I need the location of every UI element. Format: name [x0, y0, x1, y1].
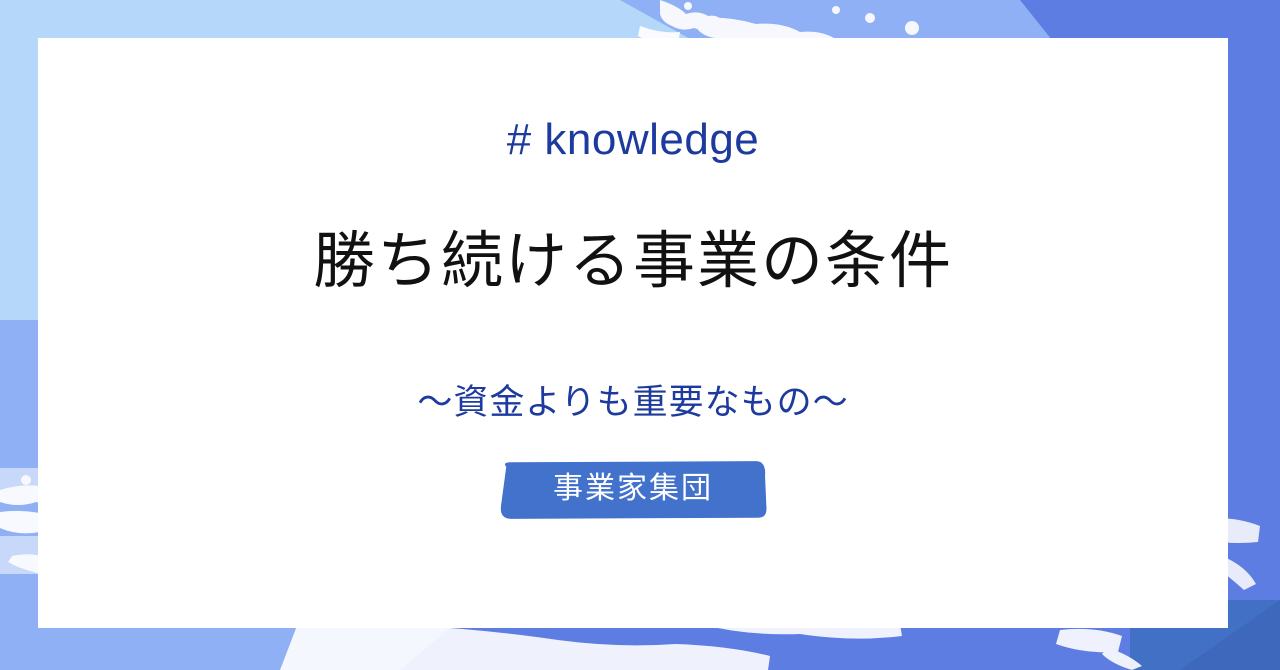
shape-mid-blue-bottom — [0, 628, 1280, 670]
page-title: 勝ち続ける事業の条件 — [313, 224, 953, 298]
category-eyebrow: # knowledge — [507, 116, 760, 164]
brand-badge[interactable]: 事業家集団 — [497, 460, 769, 520]
brand-badge-label: 事業家集団 — [497, 460, 769, 520]
slide-canvas: # knowledge 勝ち続ける事業の条件 〜資金よりも重要なもの〜 事業家集… — [0, 0, 1280, 670]
content-card: # knowledge 勝ち続ける事業の条件 〜資金よりも重要なもの〜 事業家集… — [38, 38, 1228, 628]
page-subtitle: 〜資金よりも重要なもの〜 — [417, 382, 848, 424]
shape-deep-blue-bottom-wedge — [400, 628, 1280, 670]
